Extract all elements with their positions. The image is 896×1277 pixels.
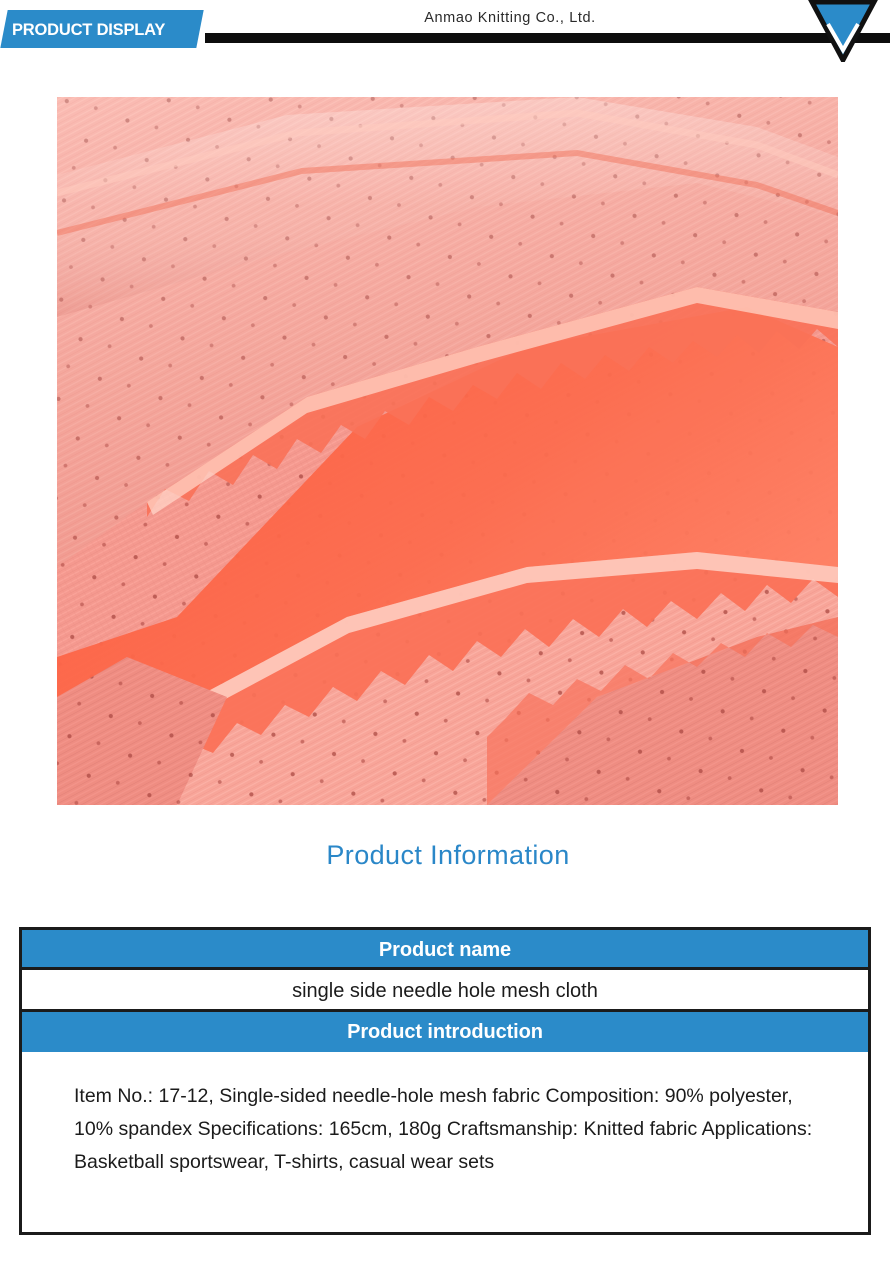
product-photo	[57, 97, 838, 805]
table-row-product-introduction-value: Item No.: 17-12, Single-sided needle-hol…	[22, 1052, 868, 1232]
page-header: PRODUCT DISPLAY Anmao Knitting Co., Ltd.	[0, 0, 896, 66]
header-divider-rule	[205, 33, 890, 43]
triangle-down-chevron-icon	[808, 0, 878, 62]
table-header-product-introduction: Product introduction	[22, 1012, 868, 1052]
table-row-product-name-value: single side needle hole mesh cloth	[22, 970, 868, 1012]
product-information-table: Product name single side needle hole mes…	[19, 927, 871, 1235]
company-name: Anmao Knitting Co., Ltd.	[300, 10, 720, 26]
page-title: Product Information	[0, 840, 896, 871]
table-header-product-name: Product name	[22, 930, 868, 970]
product-display-banner-label: PRODUCT DISPLAY	[12, 17, 202, 43]
fabric-swatch-photo	[57, 97, 838, 805]
